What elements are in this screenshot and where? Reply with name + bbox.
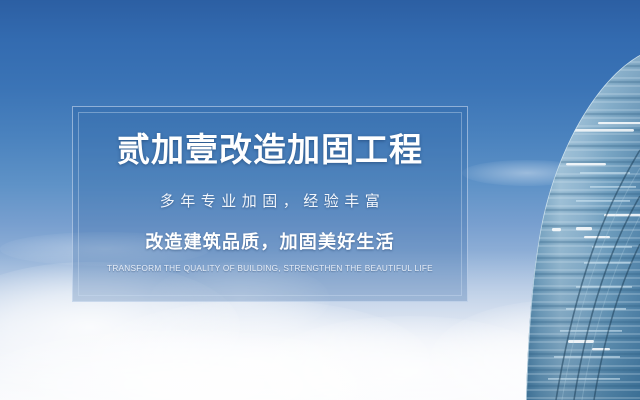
subtitle-text: 多年专业加固，经验丰富 (155, 190, 386, 211)
page-title: 贰加壹改造加固工程 (117, 133, 423, 168)
banner-image: 贰加壹改造加固工程 多年专业加固，经验丰富 改造建筑品质，加固美好生活 TRAN… (0, 0, 640, 400)
headline-panel: 贰加壹改造加固工程 多年专业加固，经验丰富 改造建筑品质，加固美好生活 TRAN… (72, 106, 468, 302)
tagline-text: 改造建筑品质，加固美好生活 (145, 228, 395, 254)
english-tagline-text: TRANSFORM THE QUALITY OF BUILDING, STREN… (107, 263, 433, 273)
